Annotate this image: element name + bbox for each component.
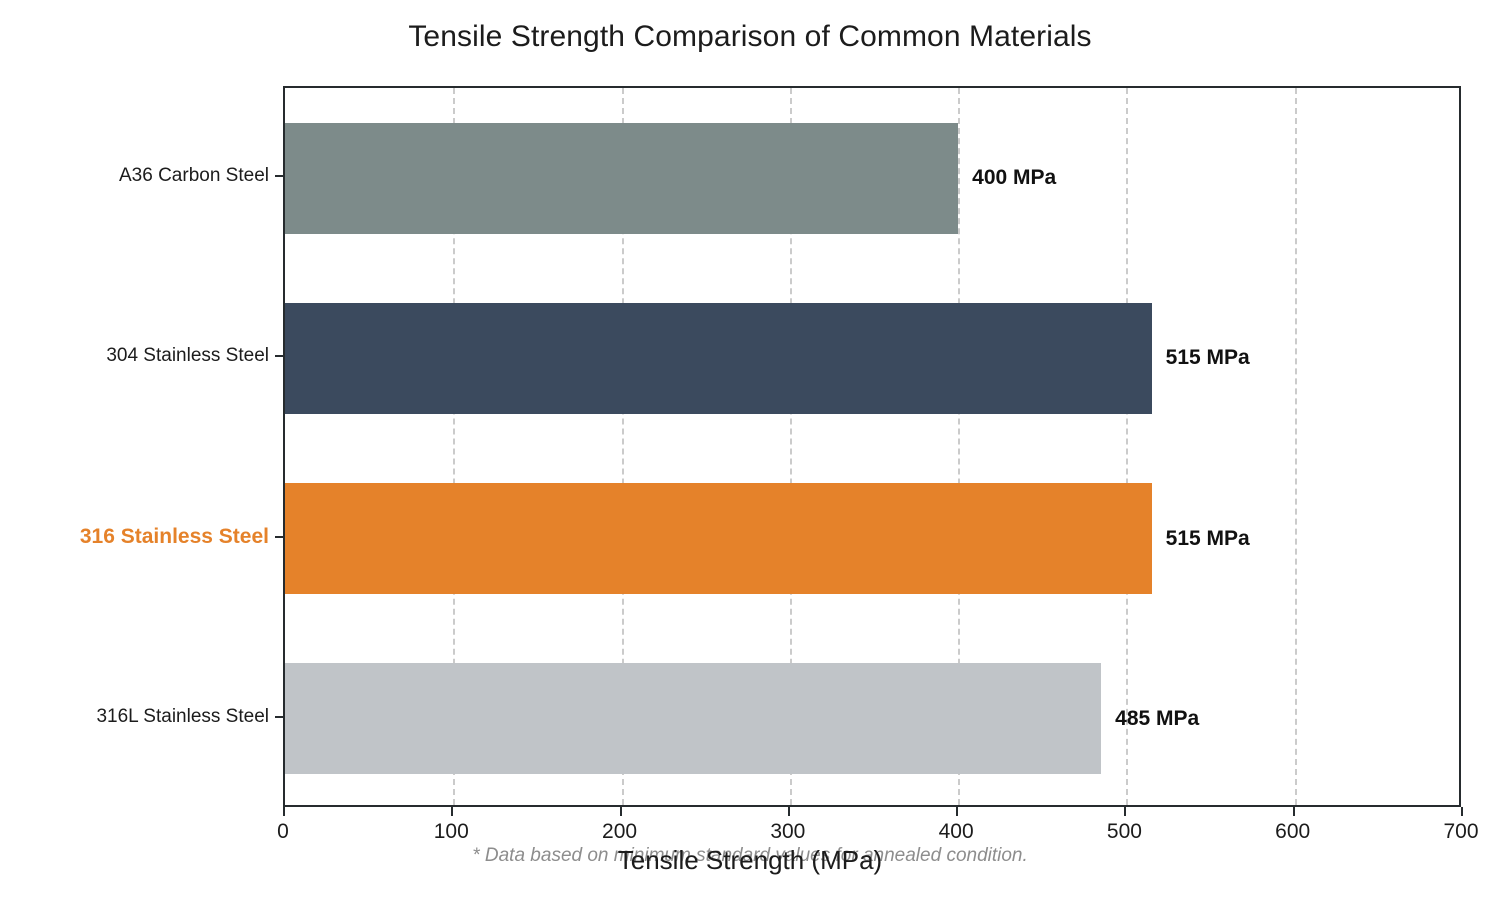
x-axis-tick-mark [1124, 807, 1126, 816]
x-axis-tick-label: 100 [434, 820, 469, 844]
x-axis-tick-mark [1461, 807, 1463, 816]
x-axis-tick-label: 600 [1275, 820, 1310, 844]
bar-series: 400 MPa515 MPa515 MPa485 MPa [285, 88, 1459, 805]
x-axis-tick-mark [451, 807, 453, 816]
x-axis-tick-mark [788, 807, 790, 816]
x-axis-tick-label: 700 [1443, 820, 1478, 844]
plot-area: 400 MPa515 MPa515 MPa485 MPa [283, 86, 1461, 807]
bar-1[interactable] [285, 123, 958, 234]
page-title: Tensile Strength Comparison of Common Ma… [0, 20, 1500, 54]
y-axis-tick-mark [275, 716, 283, 718]
x-axis-tick-label: 300 [770, 820, 805, 844]
bar-value-label: 515 MPa [1166, 346, 1250, 370]
x-axis-tick-label: 200 [602, 820, 637, 844]
x-axis-tick-label: 400 [939, 820, 974, 844]
y-axis-labels: A36 Carbon Steel304 Stainless Steel316 S… [0, 86, 283, 807]
y-axis-tick-mark [275, 175, 283, 177]
bar-value-label: 485 MPa [1115, 707, 1199, 731]
y-axis-tick-label: 304 Stainless Steel [106, 345, 269, 367]
x-axis-tick-mark [283, 807, 285, 816]
bar-value-label: 400 MPa [972, 166, 1056, 190]
x-axis-tick-mark [956, 807, 958, 816]
bar-3[interactable] [285, 483, 1152, 594]
x-axis-title: Tensile Strength (MPa) [0, 845, 1500, 876]
y-axis-tick-label: A36 Carbon Steel [119, 165, 269, 187]
x-axis-tick-mark [620, 807, 622, 816]
y-axis-tick-mark [275, 536, 283, 538]
bar-4[interactable] [285, 663, 1101, 774]
x-axis-tick-label: 500 [1107, 820, 1142, 844]
bar-value-label: 515 MPa [1166, 527, 1250, 551]
x-axis-tick-label: 0 [277, 820, 289, 844]
y-axis-tick-label: 316 Stainless Steel [80, 525, 269, 549]
x-axis-tick-mark [1293, 807, 1295, 816]
bar-2[interactable] [285, 303, 1152, 414]
y-axis-tick-label: 316L Stainless Steel [96, 706, 269, 728]
y-axis-tick-mark [275, 355, 283, 357]
